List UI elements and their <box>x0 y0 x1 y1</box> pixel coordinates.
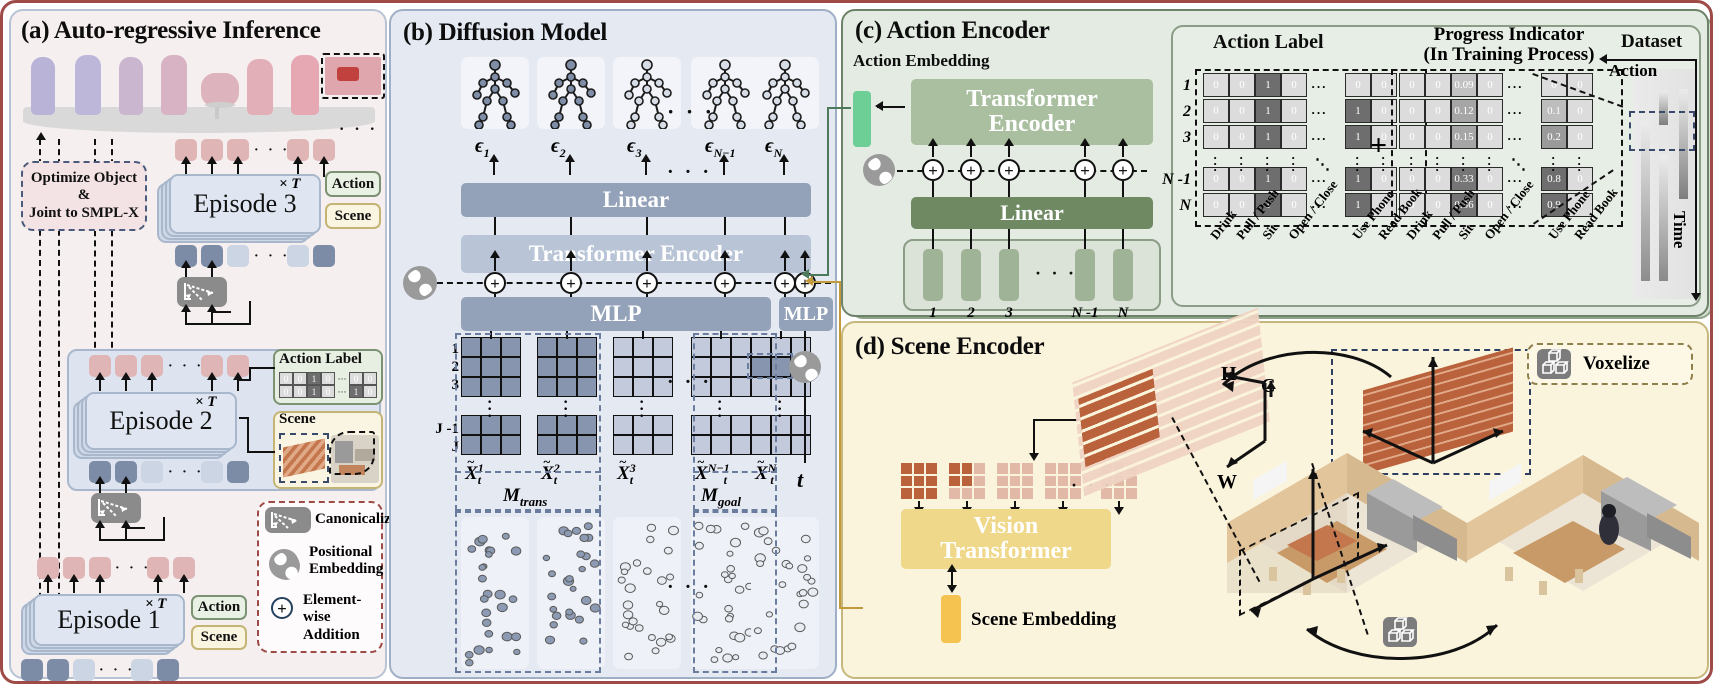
ellipsis-v: ··· <box>1239 155 1243 173</box>
arrow-up <box>1084 145 1086 157</box>
action-label-cell: 1 <box>1345 125 1371 149</box>
linear-block-c: Linear <box>911 197 1153 229</box>
progress-cell: 0.09 <box>1451 73 1477 97</box>
progress-cell: 0 <box>1477 73 1503 97</box>
ellipsis-v: ··· <box>1487 155 1491 173</box>
scene-embed-connector-v <box>839 281 841 609</box>
optimize-line-1: Optimize Object <box>29 170 139 187</box>
vision-transformer-block: Vision Transformer <box>901 509 1111 569</box>
patch-cell <box>997 488 1008 499</box>
connector <box>646 217 648 235</box>
action-input-1[interactable]: Action <box>191 595 247 620</box>
transformer-line-1: Transformer <box>966 87 1098 112</box>
matrix-cell <box>791 435 811 455</box>
arrow-up <box>724 257 726 271</box>
action-label-cell: ··· <box>335 385 349 398</box>
vertical-ellipsis: ··· <box>777 399 782 420</box>
token-blue-light <box>141 461 163 483</box>
voxelize-legend-label: Voxelize <box>1583 353 1650 375</box>
ellipsis-diagonal: ⋱ <box>1315 155 1330 174</box>
action-embed-connector <box>829 107 851 109</box>
token-blue-light <box>73 659 95 681</box>
connector <box>784 217 786 235</box>
token-blue <box>313 245 335 267</box>
ellipsis-h: ··· <box>1311 79 1327 95</box>
progress-cell: 0 <box>1477 125 1503 149</box>
patch-cell <box>1058 476 1069 487</box>
panel-d-title: (d) Scene Encoder <box>855 333 1044 361</box>
patch-cell <box>1010 488 1021 499</box>
matrix-cell <box>633 337 653 357</box>
optimize-line-3: Joint to SMPL-X <box>29 205 139 222</box>
matrix-cell <box>613 357 633 377</box>
ellipsis-eps: · · · <box>667 161 712 184</box>
patch-cell <box>901 476 912 487</box>
patch-cell <box>1114 488 1125 499</box>
action-label-cell: 0 <box>1203 99 1229 123</box>
scene-arc-top <box>1209 337 1409 407</box>
patch-cell <box>901 488 912 499</box>
matrix-cell <box>653 435 673 455</box>
action-label-cell: 0 <box>279 372 293 385</box>
matrix-row-label: 2 <box>1137 103 1191 121</box>
patch-cell <box>1022 463 1033 474</box>
patch-cell <box>962 476 973 487</box>
progress-cell: 0 <box>1399 73 1425 97</box>
connector <box>642 331 644 339</box>
arrow-up <box>970 145 972 157</box>
scene-patch <box>901 463 937 499</box>
plus-circle-icon: + <box>998 159 1020 181</box>
matrix-cell <box>613 415 633 435</box>
action-label-cell: 0 <box>1203 125 1229 149</box>
ellipsis-h: ··· <box>1507 131 1523 147</box>
arrow-up <box>723 161 725 175</box>
arrow-up <box>493 161 495 175</box>
connector <box>1008 181 1010 197</box>
token-index: 1 <box>917 305 949 322</box>
token-blue <box>21 659 43 681</box>
patch-cell <box>1045 476 1056 487</box>
connector <box>1122 229 1124 249</box>
patch-cell <box>949 488 960 499</box>
linear-block: Linear <box>461 183 811 217</box>
plus-circle-icon: + <box>560 272 582 294</box>
ellipsis-h: ··· <box>1311 131 1327 147</box>
patch-cell <box>1010 476 1021 487</box>
connector <box>494 217 496 235</box>
vt-line-2: Transformer <box>940 539 1072 564</box>
action-label-cell: 0 <box>321 385 335 398</box>
patch-cell <box>974 488 985 499</box>
arrow-head-left <box>875 101 883 111</box>
action-embed-connector-v <box>827 107 829 275</box>
ellipsis-diagonal: ⋱ <box>1511 155 1526 174</box>
arrow-head-down <box>947 585 957 593</box>
action-label-cell: 0 <box>349 372 363 385</box>
patch-cell <box>949 476 960 487</box>
ellipsis-tokens: · · · <box>168 359 204 375</box>
action-token <box>999 249 1019 301</box>
scene-patch <box>997 463 1033 499</box>
transformer-encoder-block-c: Transformer Encoder <box>911 79 1153 145</box>
matrix-cell <box>613 377 633 397</box>
row-index-j-1: J -1 <box>417 421 459 438</box>
patch-cell <box>1045 488 1056 499</box>
progress-cell: 0 <box>1399 125 1425 149</box>
patch-cell <box>1022 476 1033 487</box>
legend-pe-label-2: Embedding <box>309 561 383 578</box>
plus-circle-icon: + <box>636 272 658 294</box>
patch-cell <box>962 488 973 499</box>
transformer-line-2: Encoder <box>989 112 1076 137</box>
panel-diffusion-model: (b) Diffusion Model <box>389 9 837 679</box>
timestep-label: t <box>797 467 803 493</box>
scene-embed-connector-h <box>809 281 841 283</box>
arrow-head-down <box>1691 293 1701 301</box>
action-label-cell: 0 <box>1281 73 1307 97</box>
ellipsis-h: ··· <box>1507 79 1523 95</box>
token-blue-light <box>287 245 309 267</box>
patch-cell <box>926 463 937 474</box>
arrow-up <box>570 257 572 271</box>
positional-embedding-icon <box>789 351 821 383</box>
matrix-cell <box>653 415 673 435</box>
plus-circle-icon: + <box>271 597 293 619</box>
action-label-cell: 1 <box>307 372 321 385</box>
plus-circle-icon: + <box>1112 159 1134 181</box>
x-tilde-label: X~3t <box>617 461 633 488</box>
patch-cell <box>997 476 1008 487</box>
patch-cell <box>901 463 912 474</box>
ellipsis-tokens-c: · · · <box>1035 263 1077 284</box>
canonicalize-icon <box>177 277 227 307</box>
token-blue <box>227 461 249 483</box>
token-index: N -1 <box>1069 305 1101 322</box>
arrow-up <box>1122 145 1124 157</box>
action-label-cell: 1 <box>1345 99 1371 123</box>
action-label-cell: 0 <box>321 372 335 385</box>
scene-patch <box>949 463 985 499</box>
arrow-head-down <box>1114 507 1124 515</box>
ellipsis-tokens: · · · <box>99 663 135 679</box>
patch-cell <box>1058 463 1069 474</box>
ellipsis-v: ··· <box>1551 155 1555 173</box>
ellipsis-v: ··· <box>1409 155 1413 173</box>
voxelize-icon <box>1383 617 1417 647</box>
action-token <box>961 249 981 301</box>
dataset-time-axis: Time <box>1669 211 1689 248</box>
connector <box>932 229 934 249</box>
connector <box>570 217 572 235</box>
progress-cell: 0.1 <box>1541 99 1567 123</box>
action-token <box>923 249 943 301</box>
voxelize-icon <box>1537 349 1571 379</box>
connector <box>1008 229 1010 249</box>
action-label-cell: 0 <box>293 372 307 385</box>
progress-cell: 0 <box>1567 99 1593 123</box>
epsilon-label: ϵ1 <box>475 135 490 161</box>
matrix-row-label: 1 <box>1137 77 1191 95</box>
skeleton-box <box>461 57 529 129</box>
action-label-cell: 0 <box>1203 73 1229 97</box>
scene-dash-circle <box>329 431 375 475</box>
epsilon-label: ϵ2 <box>551 135 566 161</box>
arrow-up <box>1008 145 1010 157</box>
action-embedding-token <box>853 91 871 147</box>
patch-cell <box>962 463 973 474</box>
arrow-up <box>569 161 571 175</box>
patch-cell <box>974 476 985 487</box>
dataset-canvas <box>1633 69 1695 299</box>
progress-cell: 0 <box>1567 125 1593 149</box>
ellipsis-h: ··· <box>1507 105 1523 121</box>
action-label-cell: 0 <box>279 385 293 398</box>
progress-title-1: Progress Indicator <box>1399 25 1619 45</box>
vt-line-1: Vision <box>974 514 1038 539</box>
token-blue <box>47 659 69 681</box>
progress-cell: 0.2 <box>1541 125 1567 149</box>
ellipsis-v: ··· <box>1265 155 1269 173</box>
token-blue-light <box>131 659 153 681</box>
arrow-up <box>494 257 496 271</box>
episode-3-repeat: × T <box>279 176 300 193</box>
positional-embedding-icon <box>863 154 895 186</box>
action-label-cell: 1 <box>1255 125 1281 149</box>
ellipsis-tokens: · · · <box>168 465 204 481</box>
patch-cell <box>926 476 937 487</box>
progress-cell: 0.12 <box>1451 99 1477 123</box>
scene-input-3[interactable]: Scene <box>325 203 381 229</box>
action-label-cell: 0 <box>363 385 377 398</box>
progress-cell: 0.15 <box>1451 125 1477 149</box>
action-label-cell: 1 <box>349 385 363 398</box>
optimize-object-box: Optimize Object & Joint to SMPL-X <box>21 161 147 231</box>
patch-cell <box>949 463 960 474</box>
episode-2-repeat: × T <box>195 394 216 411</box>
ellipsis-v: ··· <box>1213 155 1217 173</box>
progress-cell: 0 <box>1477 99 1503 123</box>
token-blue <box>157 659 179 681</box>
dataset-title: Dataset <box>1621 31 1682 53</box>
plus-symbol: + <box>1370 129 1387 163</box>
legend-add-label-1: Element-wise <box>303 592 385 627</box>
mlp-block: MLP <box>461 297 771 331</box>
ellipsis-v: ··· <box>1435 155 1439 173</box>
token-blue-light <box>201 461 223 483</box>
ellipsis-v: ··· <box>1577 155 1581 173</box>
action-token <box>1113 249 1133 301</box>
patch-cell <box>997 463 1008 474</box>
vertical-ellipsis: ··· <box>639 399 644 420</box>
action-label-title-a: Action Label <box>279 351 362 368</box>
ellipsis-v: ··· <box>1355 155 1359 173</box>
action-embedding-label: Action Embedding <box>853 51 990 71</box>
legend-pe-label-1: Positional <box>309 544 383 561</box>
action-label-grid-a: 0010···000010···10 <box>279 372 377 398</box>
connector <box>1084 229 1086 249</box>
scene-embed-connector <box>841 607 863 609</box>
matrix-row-label: N <box>1137 197 1191 215</box>
action-label-cell: 0 <box>1229 73 1255 97</box>
connector <box>1122 181 1124 197</box>
connector <box>780 331 782 339</box>
progress-cell: 0 <box>1425 99 1451 123</box>
panel-b-title: (b) Diffusion Model <box>403 19 607 47</box>
action-label-cell: 0 <box>1281 99 1307 123</box>
positional-embedding-icon <box>403 266 437 300</box>
mlp-t-block: MLP <box>779 297 833 331</box>
patch-cell <box>1045 463 1056 474</box>
token-index: N <box>1107 305 1139 322</box>
epsilon-label: ϵ3 <box>627 135 642 161</box>
token-blue-light <box>227 245 249 267</box>
action-token <box>1075 249 1095 301</box>
connector <box>970 229 972 249</box>
arrow-up <box>783 161 785 175</box>
connector <box>1084 181 1086 197</box>
matrix-cell <box>633 357 653 377</box>
arrow-head-down <box>1029 453 1039 461</box>
positional-embedding-icon <box>269 549 299 579</box>
plus-circle-icon: + <box>960 159 982 181</box>
connector <box>970 181 972 197</box>
token-index: 3 <box>993 305 1025 322</box>
progress-cell: 0 <box>1425 73 1451 97</box>
panel-c-title: (c) Action Encoder <box>855 17 1050 45</box>
patch-cell <box>914 463 925 474</box>
arrow-up <box>784 257 786 271</box>
token-index: 2 <box>955 305 987 322</box>
scene-input-1[interactable]: Scene <box>191 625 247 650</box>
skeleton-box <box>751 57 819 129</box>
skeleton-box <box>537 57 605 129</box>
ellipsis-top: · · · <box>339 121 378 139</box>
arrow-head-left <box>805 276 813 286</box>
arrow-head-left <box>1599 54 1607 64</box>
matrix-cell <box>653 337 673 357</box>
episode-1-repeat: × T <box>145 596 166 613</box>
arrow-up <box>646 257 648 271</box>
optimize-line-2: & <box>29 187 139 204</box>
panel-a-title: (a) Auto-regressive Inference <box>21 17 321 45</box>
patch-cell <box>974 463 985 474</box>
scene-title-a: Scene <box>279 411 316 428</box>
connector <box>932 181 934 197</box>
legend-canonicalize-label: Canonicalize <box>315 511 398 528</box>
patch-cell <box>1058 488 1069 499</box>
panel-auto-regressive-inference: (a) Auto-regressive Inference · · · <box>9 9 387 679</box>
action-label-cell: 1 <box>307 385 321 398</box>
plus-circle-icon: + <box>774 272 796 294</box>
patch-cell <box>1010 463 1021 474</box>
canonicalize-icon <box>265 507 311 533</box>
matrix-row-label: N -1 <box>1137 171 1191 189</box>
action-label-cell: 0 <box>293 385 307 398</box>
action-label-cell: 0 <box>1281 125 1307 149</box>
matrix-cell <box>633 435 653 455</box>
connector <box>724 217 726 235</box>
progress-cell: 0 <box>1425 125 1451 149</box>
patch-cell <box>1126 488 1137 499</box>
action-label-cell: 0 <box>1229 125 1255 149</box>
matrix-cell <box>613 337 633 357</box>
figure-root: (a) Auto-regressive Inference · · · <box>0 0 1713 684</box>
action-label-cell: 1 <box>1255 99 1281 123</box>
ellipsis-v: ··· <box>1461 155 1465 173</box>
patch-cell <box>1022 488 1033 499</box>
ellipsis-tokens: · · · <box>254 249 290 265</box>
action-label-cell: 0 <box>363 372 377 385</box>
patch-cell <box>914 488 925 499</box>
action-label-cell: 0 <box>1229 99 1255 123</box>
matrix-row-label: 3 <box>1137 129 1191 147</box>
panel-action-encoder: (c) Action Encoder Action Embedding Tran… <box>841 9 1709 317</box>
dataset-action-axis: Action <box>1609 61 1657 81</box>
patch-cell <box>926 488 937 499</box>
matrix-cell <box>613 435 633 455</box>
transformer-encoder-block: Transformer Encoder <box>461 235 811 273</box>
plus-circle-icon: + <box>714 272 736 294</box>
ellipsis-tokens: · · · <box>254 143 290 159</box>
panel-scene-encoder: (d) Scene Encoder · · · Vision Transform… <box>841 321 1709 679</box>
scene-embedding-token <box>941 595 961 643</box>
ellipsis-v: ··· <box>1291 155 1295 173</box>
action-label-cell: 1 <box>1255 73 1281 97</box>
matrix-cell <box>791 415 811 435</box>
ellipsis-h: ··· <box>1311 105 1327 121</box>
canonicalize-icon <box>91 493 141 523</box>
arrow-up <box>645 161 647 175</box>
action-label-title-c: Action Label <box>1213 31 1324 54</box>
progress-cell: 0 <box>1399 99 1425 123</box>
legend-add-label-2: Addition <box>303 627 385 644</box>
scene-embedding-label: Scene Embedding <box>971 609 1116 631</box>
plus-circle-icon: + <box>484 272 506 294</box>
progress-title-2: (In Training Process) <box>1399 45 1619 65</box>
action-label-cell: ··· <box>335 372 349 385</box>
human-mesh-sequence: · · · <box>19 47 381 139</box>
patch-cell <box>1070 463 1081 474</box>
ellipsis-tokens: · · · <box>115 561 151 577</box>
arrow-up <box>932 145 934 157</box>
plus-circle-icon: + <box>922 159 944 181</box>
action-input-3[interactable]: Action <box>325 171 381 197</box>
action-label-cell: 0 <box>1345 73 1371 97</box>
patch-cell <box>914 476 925 487</box>
plus-circle-icon: + <box>1074 159 1096 181</box>
latent-matrix-top <box>613 337 673 397</box>
ellipsis-skeletons: · · · <box>667 99 715 125</box>
